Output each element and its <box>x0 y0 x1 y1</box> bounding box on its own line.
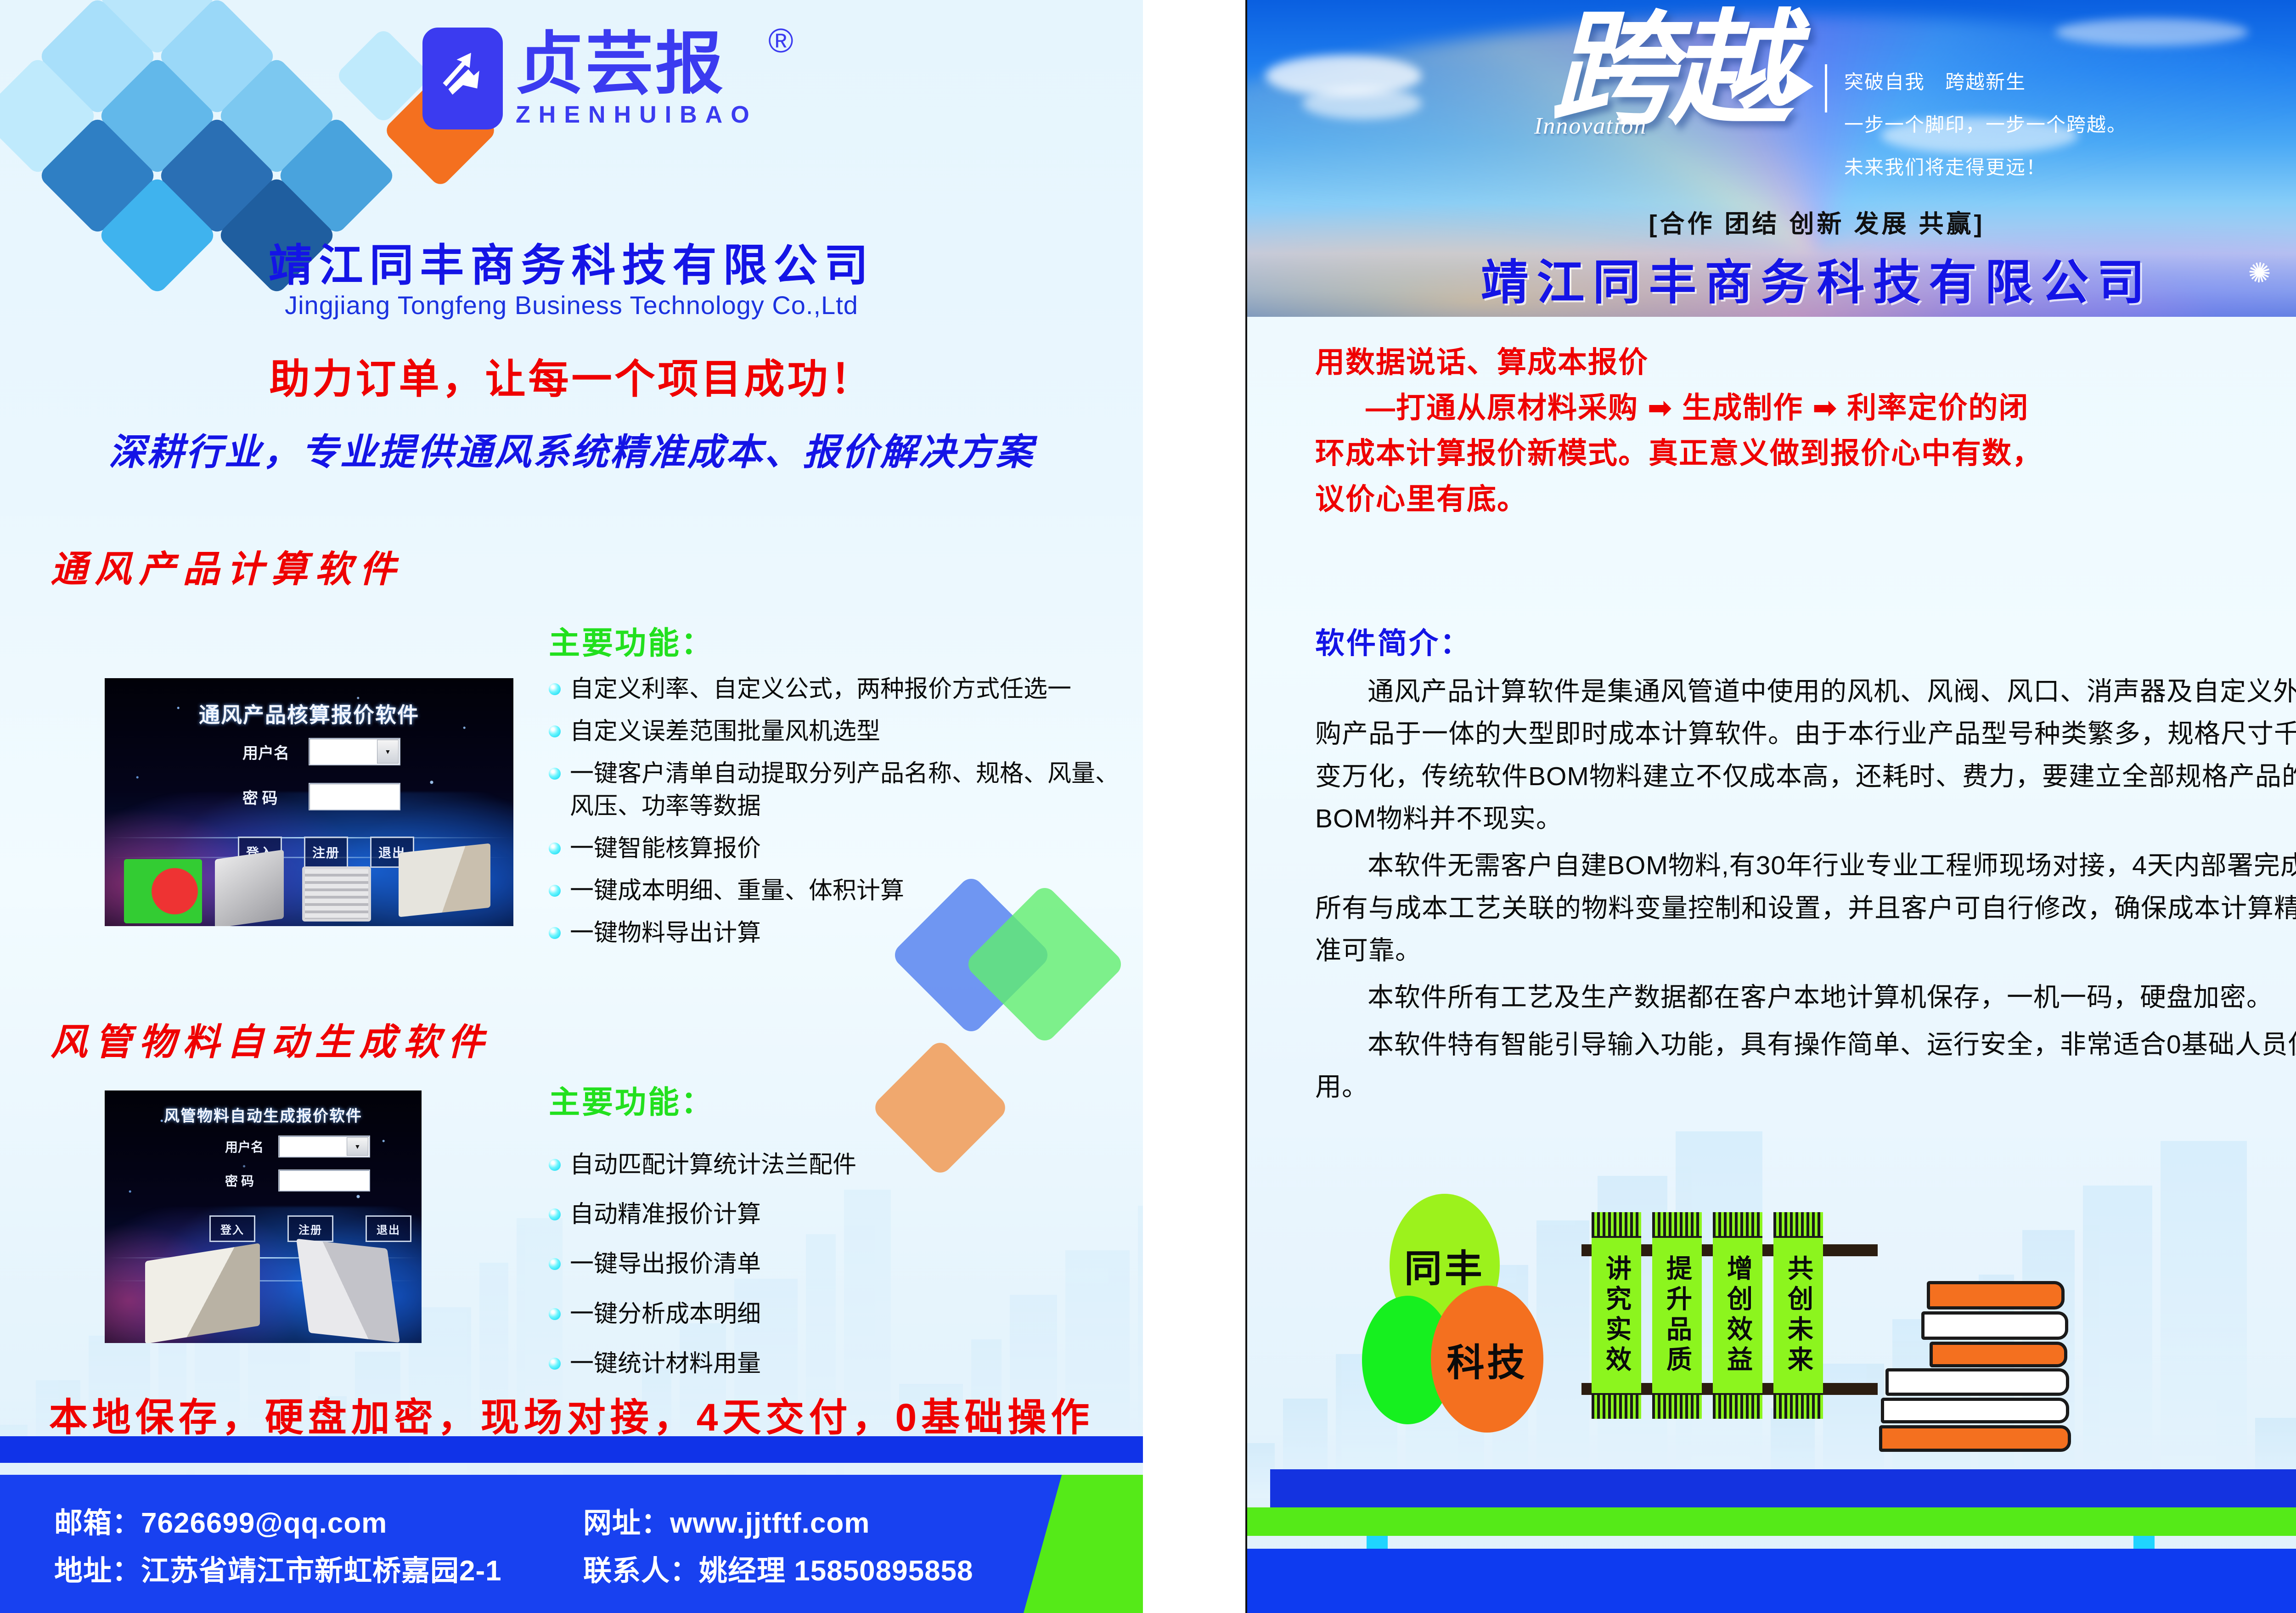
right-blue-bar <box>1247 1549 2296 1613</box>
cloud-decor <box>2055 18 2248 46</box>
bullet-icon <box>549 683 561 695</box>
screenshot-2-username-row: 用户名 ▼ <box>225 1135 370 1158</box>
ellipse-keji-label: 科技 <box>1446 1332 1527 1387</box>
password-input[interactable] <box>309 783 400 810</box>
logo-text-cn: 贞芸报 <box>516 28 758 100</box>
bullet-icon <box>549 1208 561 1220</box>
bullet-icon <box>549 1159 561 1171</box>
book-orange-1 <box>1927 1281 2065 1310</box>
footer-email[interactable]: 邮箱：7626699@qq.com <box>54 1500 387 1541</box>
banner-strip-3: 增创效益 <box>1713 1212 1762 1419</box>
features-heading-2: 主要功能： <box>549 1077 1141 1122</box>
list-item: 自定义误差范围批量风机选型 <box>549 715 1141 747</box>
logo-mark-icon <box>422 28 503 129</box>
screenshot-2-buttons: 登入 注册 退出 <box>209 1215 411 1242</box>
registered-mark-icon: ® <box>768 21 793 60</box>
cloud-decor <box>1302 87 1422 119</box>
ellipse-keji: 科技 <box>1431 1286 1543 1433</box>
list-item: 一键智能核算报价 <box>549 832 1141 865</box>
feature-text: 一键统计材料用量 <box>570 1348 761 1380</box>
screenshot-2-title: 风管物料自动生成报价软件 <box>105 1103 422 1126</box>
banner-text-4: 共创未来 <box>1780 1251 1817 1380</box>
hero-core-values: [合作 团结 创新 发展 共赢] <box>1247 203 2296 240</box>
left-slogan-red: 助力订单，让每一个项目成功！ <box>0 347 1143 405</box>
software-screenshot-1: 通风产品核算报价软件 用户名 ▼ 密 码 登入 注册 退出 <box>105 678 513 926</box>
right-green-bar <box>1247 1507 2296 1536</box>
right-poster-panel: 跨越 Innovation 突破自我 跨越新生 一步一个脚印，一步一个跨越。 未… <box>1245 0 2296 1613</box>
software-intro-heading: 软件简介： <box>1315 620 1471 662</box>
screenshot-1-username-row: 用户名 ▼ <box>242 738 400 765</box>
intro-paragraph: 本软件所有工艺及生产数据都在客户本地计算机保存，一机一码，硬盘加密。 <box>1315 976 2296 1018</box>
banner-text-2: 提升品质 <box>1659 1251 1696 1380</box>
play-triangle-icon <box>1787 69 1813 104</box>
username-label: 用户名 <box>225 1137 266 1156</box>
list-item: 一键导出报价清单 <box>549 1248 1141 1280</box>
login-button[interactable]: 登入 <box>209 1215 255 1242</box>
features-heading-1: 主要功能： <box>549 618 1141 663</box>
feature-text: 一键导出报价清单 <box>570 1248 761 1280</box>
hero-innovation-text: Innovation <box>1534 112 1647 140</box>
footer-green-wedge <box>1024 1475 1143 1613</box>
left-slogan-blue: 深耕行业，专业提供通风系统精准成本、报价解决方案 <box>0 422 1143 476</box>
bullet-icon <box>549 927 561 939</box>
list-item: 自动匹配计算统计法兰配件 <box>549 1149 1141 1181</box>
password-label: 密 码 <box>225 1171 266 1190</box>
damper-photo <box>215 849 284 926</box>
banner-ornament-top <box>1652 1212 1702 1238</box>
feature-text: 一键物料导出计算 <box>570 917 761 949</box>
zigzag-arrow-icon <box>433 38 493 114</box>
brand-logo: 贞芸报 ® ZHENHUIBAO <box>422 28 758 129</box>
left-company-name-cn: 靖江同丰商务科技有限公司 <box>0 230 1143 293</box>
left-poster-panel: 贞芸报 ® ZHENHUIBAO 靖江同丰商务科技有限公司 Jingjiang … <box>0 0 1143 1613</box>
bullet-icon <box>549 843 561 854</box>
right-hero-banner: 跨越 Innovation 突破自我 跨越新生 一步一个脚印，一步一个跨越。 未… <box>1247 0 2296 317</box>
software-intro-paragraphs: 通风产品计算软件是集通风管道中使用的风机、风阀、风口、消声器及自定义外购产品于一… <box>1315 670 2296 1113</box>
right-red-headline-block: 用数据说话、算成本报价 —打通从原材料采购 ➡ 生成制作 ➡ 利率定价的闭 环成… <box>1315 340 2296 522</box>
feature-text: 一键分析成本明细 <box>570 1298 761 1330</box>
hero-taglines: 突破自我 跨越新生 一步一个脚印，一步一个跨越。 未来我们将走得更远！ <box>1844 67 2127 195</box>
list-item: 自动精准报价计算 <box>549 1198 1141 1231</box>
banner-ornament-bottom <box>1592 1393 1641 1419</box>
banner-strip-2: 提升品质 <box>1652 1212 1702 1419</box>
book-orange-2 <box>1930 1342 2067 1367</box>
duct-panel-photo <box>296 1239 400 1343</box>
username-label: 用户名 <box>242 741 293 763</box>
banner-text-3: 增创效益 <box>1719 1251 1756 1380</box>
footer-address: 地址：江苏省靖江市新虹桥嘉园2-1 <box>54 1547 502 1589</box>
chevron-down-icon[interactable]: ▼ <box>377 740 399 764</box>
axial-fan-photo <box>124 859 202 923</box>
feature-text: 一键客户清单自动提取分列产品名称、规格、风量、风压、功率等数据 <box>570 758 1141 822</box>
ellipse-tongfeng-label: 同丰 <box>1404 1238 1485 1293</box>
exit-button[interactable]: 退出 <box>366 1215 411 1242</box>
footer-contact[interactable]: 联系人：姚经理 15850895858 <box>583 1547 974 1589</box>
banner-ornament-top <box>1713 1212 1762 1238</box>
red-line-4: 议价心里有底。 <box>1315 477 2296 522</box>
logo-text-en: ZHENHUIBAO <box>516 101 758 129</box>
book-white-2 <box>1885 1368 2069 1396</box>
book-white-1 <box>1921 1311 2068 1340</box>
chevron-down-icon[interactable]: ▼ <box>347 1137 368 1156</box>
bullet-icon <box>549 1308 561 1320</box>
banner-ornament-top <box>1773 1212 1823 1238</box>
banner-text-1: 讲究实效 <box>1598 1251 1635 1380</box>
hero-tagline-3: 未来我们将走得更远！ <box>1844 152 2127 180</box>
screenshot-1-password-row: 密 码 <box>242 783 400 810</box>
footer-website[interactable]: 网址：www.jjtftf.com <box>583 1500 870 1541</box>
feature-text: 一键成本明细、重量、体积计算 <box>570 875 904 907</box>
list-item: 自定义利率、自定义公式，两种报价方式任选一 <box>549 673 1141 705</box>
feature-text: 自动精准报价计算 <box>570 1198 761 1231</box>
bullet-icon <box>549 885 561 897</box>
username-input[interactable]: ▼ <box>278 1135 370 1158</box>
poster-page: 贞芸报 ® ZHENHUIBAO 靖江同丰商务科技有限公司 Jingjiang … <box>0 0 2296 1613</box>
features-block-2: 主要功能： 自动匹配计算统计法兰配件 自动精准报价计算 一键导出报价清单 一键分… <box>549 1077 1141 1397</box>
red-line-1: 用数据说话、算成本报价 <box>1315 340 2296 385</box>
software-screenshot-2: 风管物料自动生成报价软件 用户名 ▼ 密 码 登入 注册 退出 <box>105 1090 422 1343</box>
banner-ornament-bottom <box>1652 1393 1702 1419</box>
grille-photo <box>302 866 371 922</box>
section-title-ventilation-software: 通风产品计算软件 <box>51 540 403 593</box>
register-button[interactable]: 注册 <box>287 1215 333 1242</box>
banner-strip-1: 讲究实效 <box>1592 1212 1641 1419</box>
screenshot-1-title: 通风产品核算报价软件 <box>105 698 513 729</box>
red-line-2: —打通从原材料采购 ➡ 生成制作 ➡ 利率定价的闭 <box>1315 385 2296 431</box>
bottom-illustration: 同丰 科技 讲究实效 提升品质 增创效益 <box>1362 1175 2280 1543</box>
bullet-icon <box>549 768 561 780</box>
bullet-icon <box>549 1358 561 1370</box>
feature-text: 自定义误差范围批量风机选型 <box>570 715 880 747</box>
password-label: 密 码 <box>242 786 293 808</box>
left-company-name-en: Jingjiang Tongfeng Business Technology C… <box>0 290 1143 320</box>
bullet-icon <box>549 725 561 737</box>
feature-text: 自定义利率、自定义公式，两种报价方式任选一 <box>570 673 1071 705</box>
red-line-3: 环成本计算报价新模式。真正意义做到报价心中有数， <box>1315 431 2296 476</box>
features-list-2: 自动匹配计算统计法兰配件 自动精准报价计算 一键导出报价清单 一键分析成本明细 … <box>549 1149 1141 1380</box>
feature-text: 自动匹配计算统计法兰配件 <box>570 1149 856 1181</box>
left-footer: 邮箱：7626699@qq.com 网址：www.jjtftf.com 地址：江… <box>0 1475 1143 1613</box>
bullet-icon <box>549 1258 561 1270</box>
password-input[interactable] <box>278 1169 370 1191</box>
book-white-3 <box>1881 1398 2069 1423</box>
hero-tagline-1: 突破自我 跨越新生 <box>1844 67 2127 95</box>
list-item: 一键统计材料用量 <box>549 1348 1141 1380</box>
intro-paragraph: 本软件特有智能引导输入功能，具有操作简单、运行安全，非常适合0基础人员使用。 <box>1315 1023 2296 1108</box>
list-item: 一键分析成本明细 <box>549 1298 1141 1330</box>
username-input[interactable]: ▼ <box>309 738 400 765</box>
hero-tagline-2: 一步一个脚印，一步一个跨越。 <box>1844 109 2127 137</box>
banner-ornament-bottom <box>1713 1393 1762 1419</box>
shelf-bar <box>1270 1469 2296 1513</box>
hero-divider <box>1825 64 1827 112</box>
intro-paragraph: 本软件无需客户自建BOM物料,有30年行业专业工程师现场对接，4天内部署完成所有… <box>1315 844 2296 972</box>
banner-ornament-top <box>1592 1212 1641 1238</box>
intro-paragraph: 通风产品计算软件是集通风管道中使用的风机、风阀、风口、消声器及自定义外购产品于一… <box>1315 670 2296 840</box>
silencer-photo <box>399 843 490 917</box>
register-button[interactable]: 注册 <box>304 837 348 868</box>
left-bottom-red-banner: 本地保存，硬盘加密，现场对接，4天交付，0基础操作 <box>0 1387 1143 1442</box>
feature-text: 一键智能核算报价 <box>570 832 761 865</box>
left-blue-divider-bar <box>0 1436 1143 1463</box>
book-orange-3 <box>1879 1425 2071 1452</box>
screenshot-2-password-row: 密 码 <box>225 1169 370 1191</box>
right-company-name-cn: 靖江同丰商务科技有限公司 <box>1247 243 2296 313</box>
duct-box-photo <box>145 1243 260 1343</box>
right-body: 用数据说话、算成本报价 —打通从原材料采购 ➡ 生成制作 ➡ 利率定价的闭 环成… <box>1247 317 2296 1613</box>
banner-ornament-bottom <box>1773 1393 1823 1419</box>
banner-strip-4: 共创未来 <box>1773 1212 1823 1419</box>
section-title-duct-material-software: 风管物料自动生成软件 <box>51 1012 491 1066</box>
list-item: 一键客户清单自动提取分列产品名称、规格、风量、风压、功率等数据 <box>549 758 1141 822</box>
